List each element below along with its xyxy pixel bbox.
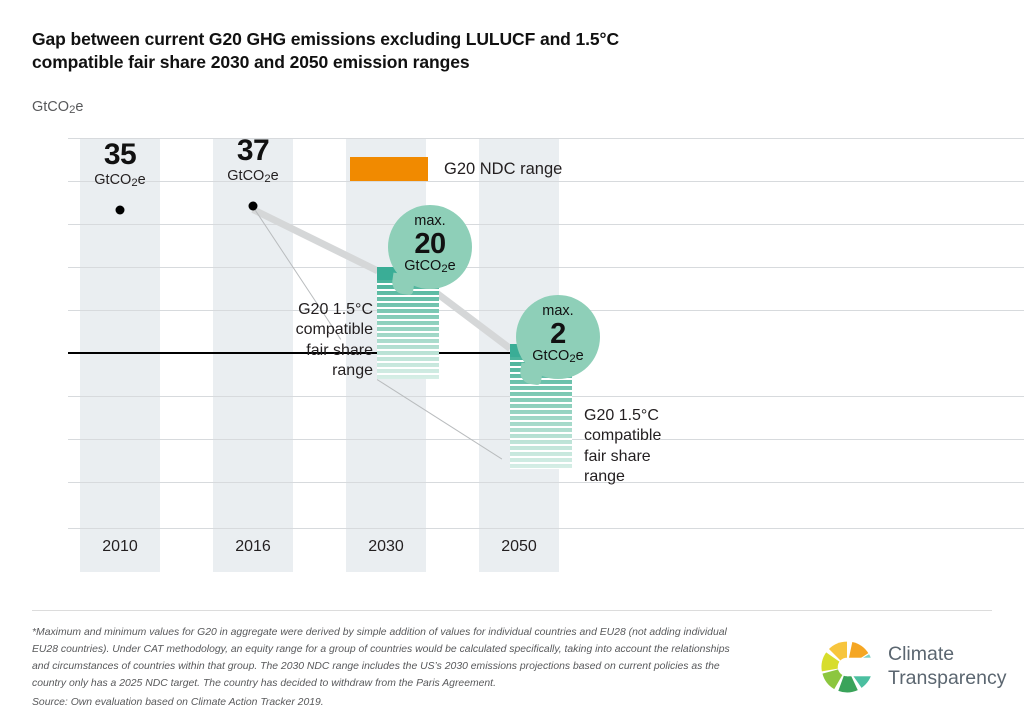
chart-legend: G20 NDC range [350, 157, 562, 181]
value-label-2016-unit: GtCO2e [193, 168, 313, 185]
x-label-2016: 2016 [213, 538, 293, 556]
legend-label-ndc-range: G20 NDC range [444, 160, 562, 179]
x-label-2050: 2050 [479, 538, 559, 556]
climate-transparency-logo: Climate Transparency [818, 638, 1007, 696]
footnote-text: *Maximum and minimum values for G20 in a… [32, 625, 732, 692]
value-label-2010-number: 35 [60, 140, 180, 170]
value-label-2016-number: 37 [193, 136, 313, 166]
callout-2050-prefix: max. [516, 295, 600, 319]
y-axis-unit-prefix: GtCO [32, 99, 69, 115]
x-label-2010: 2010 [80, 538, 160, 556]
y-axis-unit-suffix: e [75, 99, 83, 115]
column-band-2010 [80, 138, 160, 572]
source-text: Source: Own evaluation based on Climate … [32, 697, 324, 708]
value-label-2010-unit: GtCO2e [60, 172, 180, 189]
annotation-2030-range-label: G20 1.5°C compatible fair share range [228, 300, 373, 382]
legend-swatch-ndc-range [350, 157, 428, 181]
logo-line-1: Climate [888, 643, 1007, 667]
data-point-2016 [249, 202, 258, 211]
callout-2030-prefix: max. [388, 205, 472, 229]
logo-wordmark: Climate Transparency [888, 643, 1007, 691]
gridline-20 [68, 267, 1024, 268]
callout-2050-value: 2 [516, 319, 600, 349]
value-label-2016: 37 GtCO2e [193, 136, 313, 185]
y-axis-unit-label: GtCO2e [32, 99, 83, 116]
callout-2030-unit: GtCO2e [388, 259, 472, 275]
gridline-minus-30 [68, 482, 1024, 483]
callout-bubble-2030: max. 20 GtCO2e [388, 205, 472, 289]
page-title: Gap between current G20 GHG emissions ex… [32, 28, 652, 75]
annotation-2050-range-label: G20 1.5°C compatible fair share range [584, 406, 754, 488]
callout-bubble-2050: max. 2 GtCO2e [516, 295, 600, 379]
chart-plot-area: 50 40 30 20 10 0 -10 -20 -30 35 GtCO2e 3… [68, 138, 580, 572]
x-label-2030: 2030 [346, 538, 426, 556]
climate-transparency-mark-icon [818, 638, 876, 696]
data-point-2010 [116, 206, 125, 215]
footer-divider [32, 610, 992, 611]
gridline-30 [68, 224, 1024, 225]
callout-2050-unit: GtCO2e [516, 349, 600, 365]
value-label-2010: 35 GtCO2e [60, 140, 180, 189]
gridline-bottom [68, 528, 1024, 529]
logo-line-2: Transparency [888, 667, 1007, 691]
callout-2030-value: 20 [388, 229, 472, 259]
